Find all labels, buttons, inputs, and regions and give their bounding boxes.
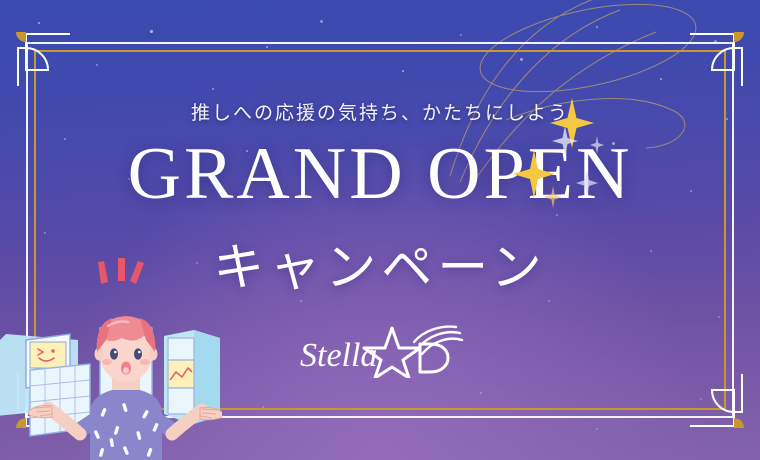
banner-headline: GRAND OPEN	[128, 139, 633, 210]
banner-tagline: 推しへの応援の気持ち、かたちにしよう	[191, 98, 569, 125]
person-holding-signage-illustration	[0, 248, 222, 460]
stella-ad-logo: Stella	[296, 322, 464, 383]
stella-ad-logo-wordmark: Stella	[300, 337, 377, 374]
campaign-banner: 推しへの応援の気持ち、かたちにしよう GRAND OPEN キャンペーン Ste…	[0, 0, 760, 460]
banner-subheadline: キャンペーン	[213, 226, 546, 300]
billboard-left	[0, 334, 90, 436]
stella-ad-logo-mark: Stella	[296, 322, 464, 378]
surprise-marks	[98, 258, 144, 284]
